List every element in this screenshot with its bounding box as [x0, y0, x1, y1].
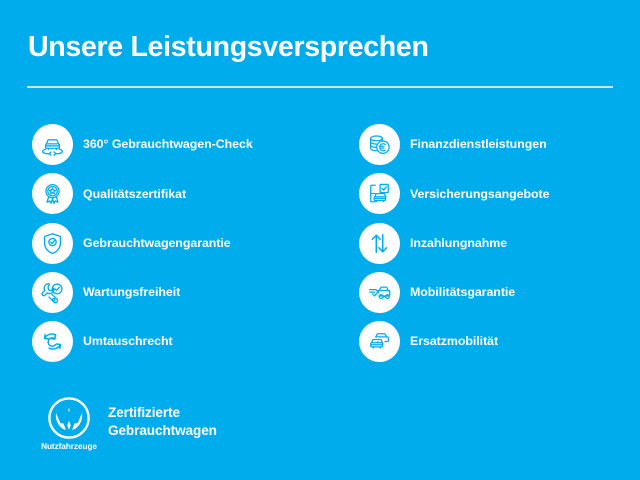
- feature-label: Qualitätszertifikat: [83, 188, 186, 200]
- feature-label: Gebrauchtwagengarantie: [83, 237, 231, 249]
- feature-label: 360° Gebrauchtwagen-Check: [83, 138, 253, 150]
- feature-item-exchange-right[interactable]: Umtauschrecht: [32, 321, 332, 362]
- quality-award-medal-icon: [32, 173, 73, 214]
- slide-root: Unsere Leistungsversprechen 360° Gebrauc…: [0, 0, 640, 480]
- exchange-arrows-icon: [32, 321, 73, 362]
- volkswagen-logo: Nutzfahrzeuge: [38, 396, 100, 451]
- up-down-arrows-icon: [359, 223, 400, 264]
- shield-check-icon: [32, 223, 73, 264]
- feature-label: Versicherungsangebote: [410, 188, 549, 200]
- feature-item-insurance-offers[interactable]: Versicherungsangebote: [359, 173, 629, 214]
- feature-label: Finanzdienstleistungen: [410, 138, 547, 150]
- feature-item-mobility-guarantee[interactable]: Mobilitätsgarantie: [359, 272, 629, 313]
- feature-column-right: Finanzdienstleistungen Versicherungsange…: [359, 124, 629, 370]
- two-cars-icon: [359, 321, 400, 362]
- volkswagen-logo-icon: [47, 396, 91, 440]
- feature-item-trade-in[interactable]: Inzahlungnahme: [359, 223, 629, 264]
- page-title: Unsere Leistungsversprechen: [28, 32, 429, 63]
- car-360-check-icon: [32, 124, 73, 165]
- feature-item-warranty[interactable]: Gebrauchtwagengarantie: [32, 223, 332, 264]
- brand-block: Nutzfahrzeuge Zertifizierte Gebrauchtwag…: [30, 396, 350, 456]
- feature-label: Ersatzmobilität: [410, 335, 498, 347]
- vw-subbrand-label: Nutzfahrzeuge: [38, 441, 100, 451]
- wrench-check-icon: [32, 272, 73, 313]
- feature-item-quality-certificate[interactable]: Qualitätszertifikat: [32, 173, 332, 214]
- title-divider: [27, 86, 613, 88]
- feature-item-replacement-mobility[interactable]: Ersatzmobilität: [359, 321, 629, 362]
- brand-claim: Zertifizierte Gebrauchtwagen: [108, 404, 217, 440]
- coins-euro-icon: [359, 124, 400, 165]
- feature-label: Umtauschrecht: [83, 335, 173, 347]
- brand-claim-line-1: Zertifizierte: [108, 404, 217, 422]
- feature-item-financial-services[interactable]: Finanzdienstleistungen: [359, 124, 629, 165]
- feature-label: Wartungsfreiheit: [83, 286, 180, 298]
- feature-label: Mobilitätsgarantie: [410, 286, 515, 298]
- tow-truck-icon: [359, 272, 400, 313]
- brand-claim-line-2: Gebrauchtwagen: [108, 422, 217, 440]
- feature-column-left: 360° Gebrauchtwagen-Check Qualitätszerti…: [32, 124, 332, 370]
- feature-label: Inzahlungnahme: [410, 237, 507, 249]
- feature-item-maintenance-free[interactable]: Wartungsfreiheit: [32, 272, 332, 313]
- feature-item-360-check[interactable]: 360° Gebrauchtwagen-Check: [32, 124, 332, 165]
- insurance-car-document-icon: [359, 173, 400, 214]
